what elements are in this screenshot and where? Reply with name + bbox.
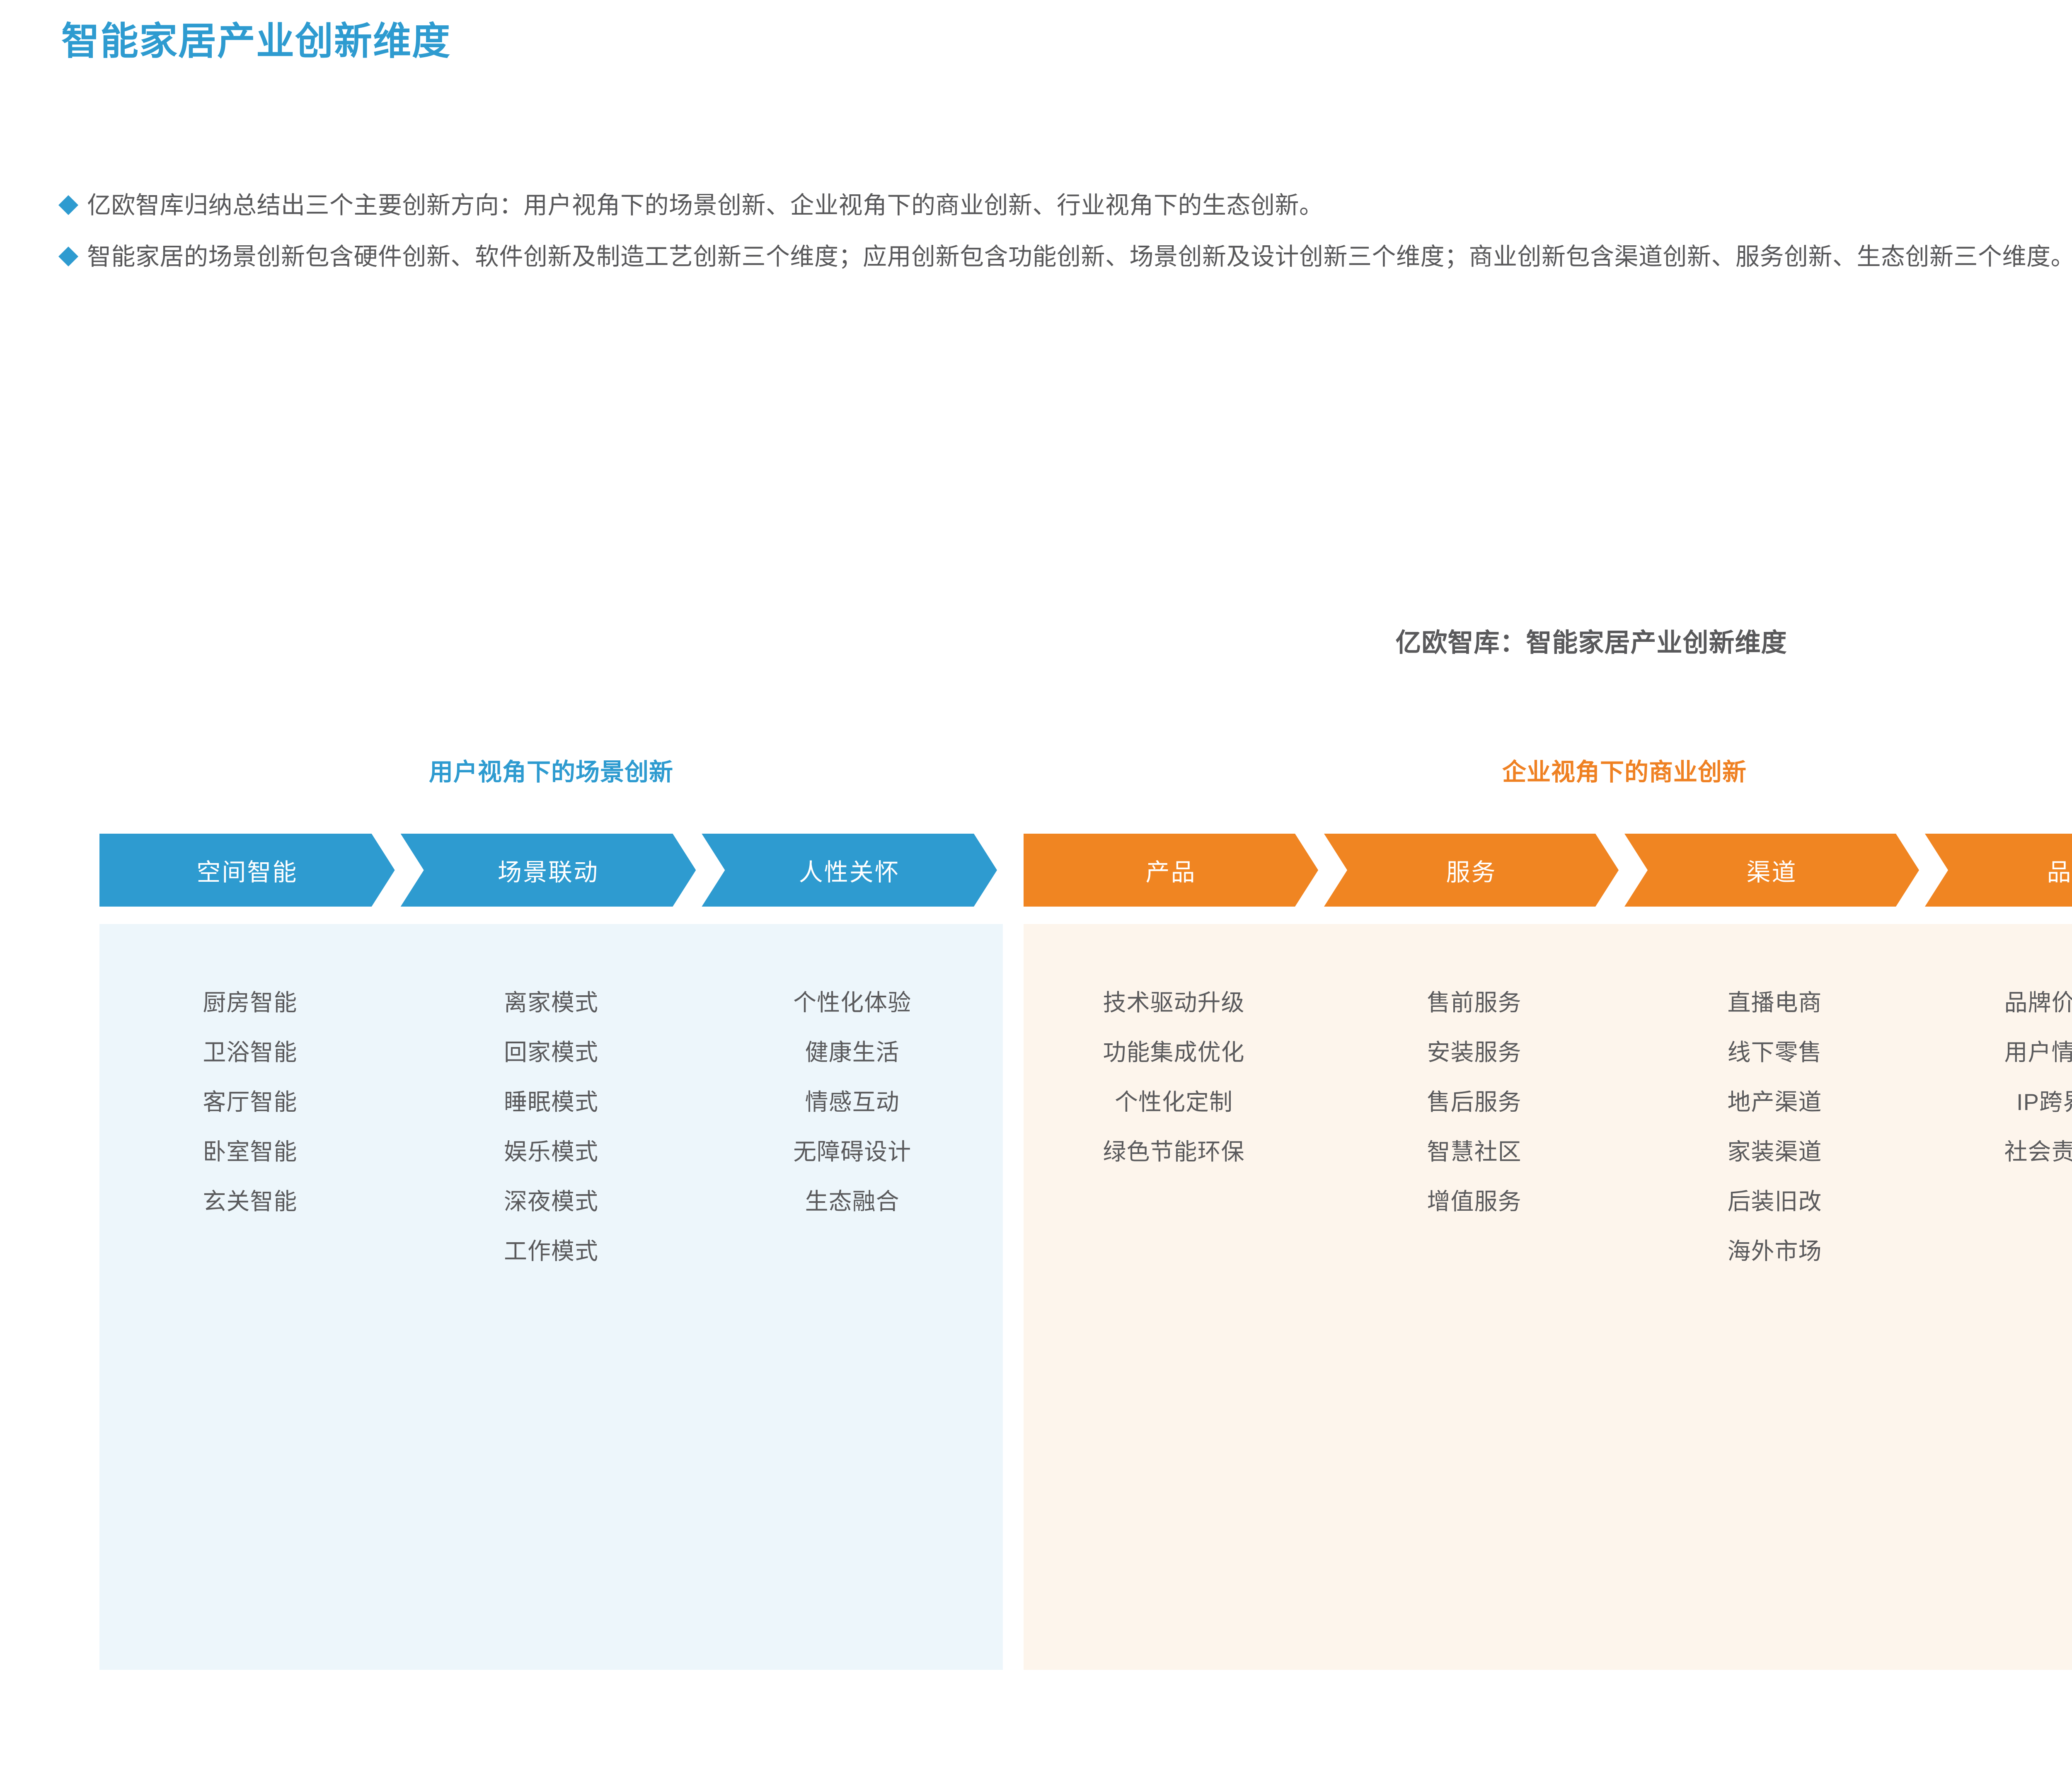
chevron-场景联动[interactable]: 场景联动: [401, 834, 696, 907]
list-item: IP跨界合作: [1925, 1077, 2072, 1127]
list-item: 品牌价值塑造: [1925, 978, 2072, 1028]
list-item: 功能集成优化: [1024, 1028, 1324, 1077]
list-item: 玄关智能: [99, 1177, 401, 1226]
list-item: 售前服务: [1324, 978, 1624, 1028]
list-item: 情感互动: [702, 1077, 1003, 1127]
diamond-bullet-icon: [58, 195, 78, 215]
list-item: 售后服务: [1324, 1077, 1624, 1127]
list-item: 回家模式: [401, 1028, 702, 1077]
group-heading-business: 企业视角下的商业创新: [1024, 752, 2072, 787]
list-item: 直播电商: [1624, 978, 1925, 1028]
list-item: 健康生活: [702, 1028, 1003, 1077]
list-item: 无障碍设计: [702, 1127, 1003, 1177]
list-item: 个性化体验: [702, 978, 1003, 1028]
column-人性关怀: 个性化体验健康生活情感互动无障碍设计生态融合: [702, 978, 1003, 1226]
column-服务: 售前服务安装服务售后服务智慧社区增值服务: [1324, 978, 1624, 1226]
list-item: 厨房智能: [99, 978, 401, 1028]
chevron-空间智能[interactable]: 空间智能: [99, 834, 395, 907]
figure-title: 亿欧智库：智能家居产业创新维度: [0, 622, 2072, 659]
list-item: 地产渠道: [1624, 1077, 1925, 1127]
bullet-item: 智能家居的场景创新包含硬件创新、软件创新及制造工艺创新三个维度；应用创新包含功能…: [61, 239, 2072, 275]
list-item: 离家模式: [401, 978, 702, 1028]
chevron-品牌[interactable]: 品牌: [1925, 834, 2072, 907]
list-item: 娱乐模式: [401, 1127, 702, 1177]
slide-page: 智能家居产业创新维度 亿欧智库 亿欧智库归纳总结出三个主要创新方向：用户视角下的…: [0, 0, 2072, 1790]
list-item: 技术驱动升级: [1024, 978, 1324, 1028]
bullet-text: 亿欧智库归纳总结出三个主要创新方向：用户视角下的场景创新、企业视角下的商业创新、…: [87, 187, 1324, 224]
page-title: 智能家居产业创新维度: [61, 20, 451, 64]
chevron-渠道[interactable]: 渠道: [1624, 834, 1919, 907]
list-item: 社会责任彰显: [1925, 1127, 2072, 1177]
list-item: 安装服务: [1324, 1028, 1624, 1077]
list-item: 海外市场: [1624, 1226, 1925, 1276]
list-item: 家装渠道: [1624, 1127, 1925, 1177]
list-item: 客厅智能: [99, 1077, 401, 1127]
list-item: 后装旧改: [1624, 1177, 1925, 1226]
list-item: 生态融合: [702, 1177, 1003, 1226]
chevron-人性关怀[interactable]: 人性关怀: [702, 834, 997, 907]
group-headings: 用户视角下的场景创新 企业视角下的商业创新 行业视角下的生态创新: [0, 752, 2072, 794]
list-item: 深夜模式: [401, 1177, 702, 1226]
group-heading-user: 用户视角下的场景创新: [99, 752, 1003, 787]
list-item: 增值服务: [1324, 1177, 1624, 1226]
list-item: 卫浴智能: [99, 1028, 401, 1077]
list-item: 用户情感共鸣: [1925, 1028, 2072, 1077]
list-item: 线下零售: [1624, 1028, 1925, 1077]
list-item: 个性化定制: [1024, 1077, 1324, 1127]
list-item: 智慧社区: [1324, 1127, 1624, 1177]
diamond-bullet-icon: [58, 247, 78, 266]
list-item: 绿色节能环保: [1024, 1127, 1324, 1177]
bullet-item: 亿欧智库归纳总结出三个主要创新方向：用户视角下的场景创新、企业视角下的商业创新、…: [61, 187, 2072, 224]
chevron-服务[interactable]: 服务: [1324, 834, 1619, 907]
list-item: 工作模式: [401, 1226, 702, 1276]
column-场景联动: 离家模式回家模式睡眠模式娱乐模式深夜模式工作模式: [401, 978, 702, 1276]
column-产品: 技术驱动升级功能集成优化个性化定制绿色节能环保: [1024, 978, 1324, 1177]
chevron-产品[interactable]: 产品: [1024, 834, 1318, 907]
list-item: 睡眠模式: [401, 1077, 702, 1127]
column-空间智能: 厨房智能卫浴智能客厅智能卧室智能玄关智能: [99, 978, 401, 1226]
bullet-list: 亿欧智库归纳总结出三个主要创新方向：用户视角下的场景创新、企业视角下的商业创新、…: [61, 187, 2072, 290]
list-item: 卧室智能: [99, 1127, 401, 1177]
bullet-text: 智能家居的场景创新包含硬件创新、软件创新及制造工艺创新三个维度；应用创新包含功能…: [87, 239, 2072, 275]
column-品牌: 品牌价值塑造用户情感共鸣IP跨界合作社会责任彰显: [1925, 978, 2072, 1177]
column-渠道: 直播电商线下零售地产渠道家装渠道后装旧改海外市场: [1624, 978, 1925, 1276]
